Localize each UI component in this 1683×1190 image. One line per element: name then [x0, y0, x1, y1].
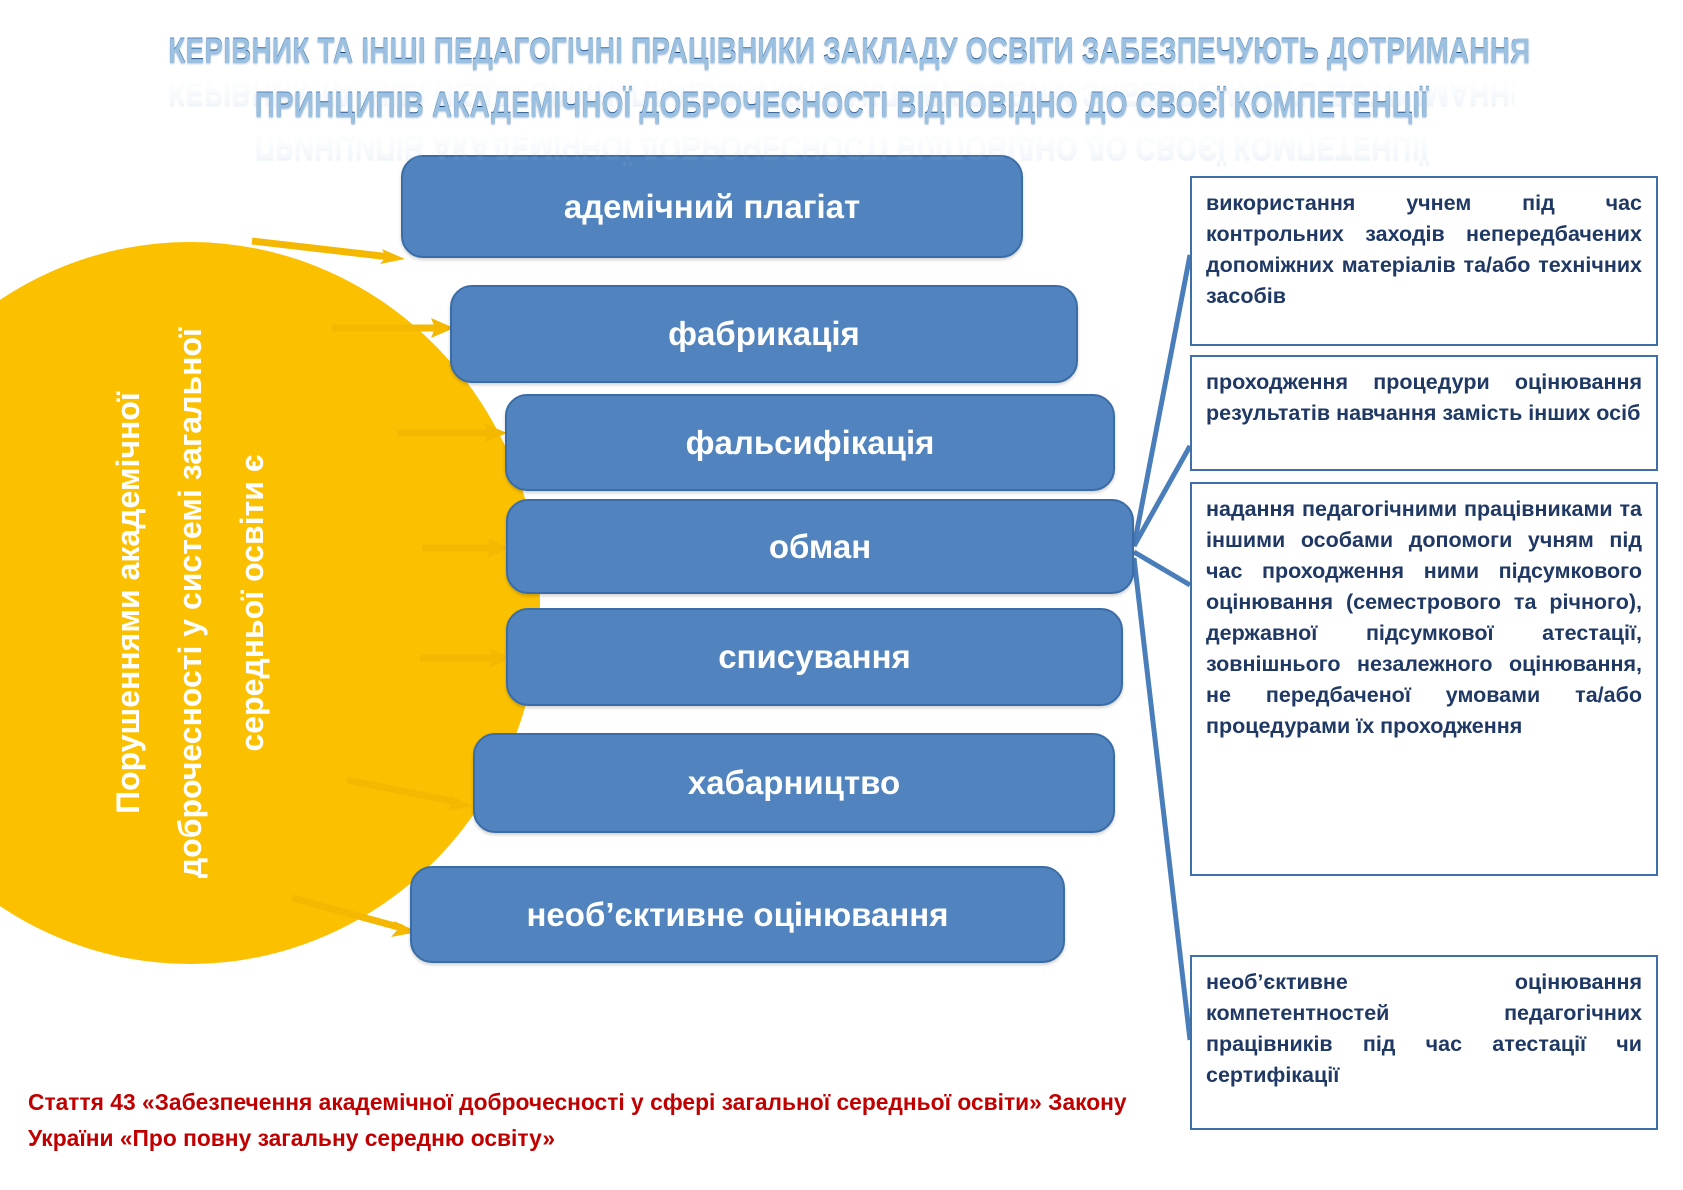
violation-pill-neobyektyvne-label: необ’єктивне оцінювання [527, 896, 949, 934]
connector-obman-to-detail-1 [1134, 255, 1190, 546]
arrow-to-plagiat [250, 215, 420, 275]
page-title: КЕРІВНИК ТА ІНШІ ПЕДАГОГІЧНІ ПРАЦІВНИКИ … [0, 26, 1683, 128]
footnote-line-2: України «Про повну загальну середню осві… [28, 1120, 1134, 1156]
connector-obman-to-detail-3 [1134, 552, 1190, 585]
title-line-1: КЕРІВНИК ТА ІНШІ ПЕДАГОГІЧНІ ПРАЦІВНИКИ … [168, 26, 1514, 76]
violation-pill-spysuvannya-label: списування [718, 638, 911, 676]
title-line-1-wrap: КЕРІВНИК ТА ІНШІ ПЕДАГОГІЧНІ ПРАЦІВНИКИ … [0, 26, 1683, 74]
title-line-2: ПРИНЦИПІВ АКАДЕМІЧНОЇ ДОБРОЧЕСНОСТІ ВІДП… [168, 80, 1514, 130]
arrow-to-fabrykatsiya [330, 310, 470, 350]
violation-pill-falsyfikatsiya[interactable]: фальсифікація [505, 394, 1115, 491]
detail-box-4-text: необ’єктивне оцінювання компетентностей … [1206, 967, 1642, 1091]
violation-pill-neobyektyvne[interactable]: необ’єктивне оцінювання [410, 866, 1065, 963]
violation-pill-plagiat-label: адемічний плагіат [564, 188, 860, 226]
violation-pill-khabarnytstvo[interactable]: хабарництво [473, 733, 1115, 833]
detail-box-1: використання учнем під час контрольних з… [1190, 176, 1658, 346]
ellipse-line-3: середньої освіти є [221, 263, 283, 943]
slide-canvas: КЕРІВНИК ТА ІНШІ ПЕДАГОГІЧНІ ПРАЦІВНИКИ … [0, 0, 1683, 1190]
detail-box-4: необ’єктивне оцінювання компетентностей … [1190, 955, 1658, 1130]
connector-obman-to-detail-2 [1134, 446, 1190, 546]
detail-box-2: проходження процедури оцінювання результ… [1190, 355, 1658, 471]
violation-pill-falsyfikatsiya-label: фальсифікація [686, 424, 935, 462]
violation-pill-fabrykatsiya[interactable]: фабрикація [450, 285, 1078, 383]
footnote: Стаття 43 «Забезпечення академічної добр… [28, 1084, 1134, 1156]
violation-pill-spysuvannya[interactable]: списування [506, 608, 1123, 706]
ellipse-line-1: Порушеннями академічної [97, 263, 159, 943]
violation-pill-plagiat[interactable]: адемічний плагіат [401, 155, 1023, 258]
detail-box-1-text: використання учнем під час контрольних з… [1206, 188, 1642, 312]
connector-obman-to-detail-4 [1134, 558, 1190, 1040]
violation-pill-fabrykatsiya-label: фабрикація [668, 315, 860, 353]
violation-pill-obman-label: обман [769, 528, 871, 566]
detail-box-3: надання педагогічними працівниками та ін… [1190, 482, 1658, 876]
ellipse-line-2: доброчесності у системі загальної [159, 263, 221, 943]
title-line-2-wrap: ПРИНЦИПІВ АКАДЕМІЧНОЇ ДОБРОЧЕСНОСТІ ВІДП… [0, 80, 1683, 128]
detail-box-3-text: надання педагогічними працівниками та ін… [1206, 494, 1642, 742]
detail-box-2-text: проходження процедури оцінювання результ… [1206, 367, 1642, 429]
violation-pill-khabarnytstvo-label: хабарництво [688, 764, 900, 802]
footnote-line-1: Стаття 43 «Забезпечення академічної добр… [28, 1084, 1134, 1120]
violation-pill-obman[interactable]: обман [506, 499, 1134, 594]
